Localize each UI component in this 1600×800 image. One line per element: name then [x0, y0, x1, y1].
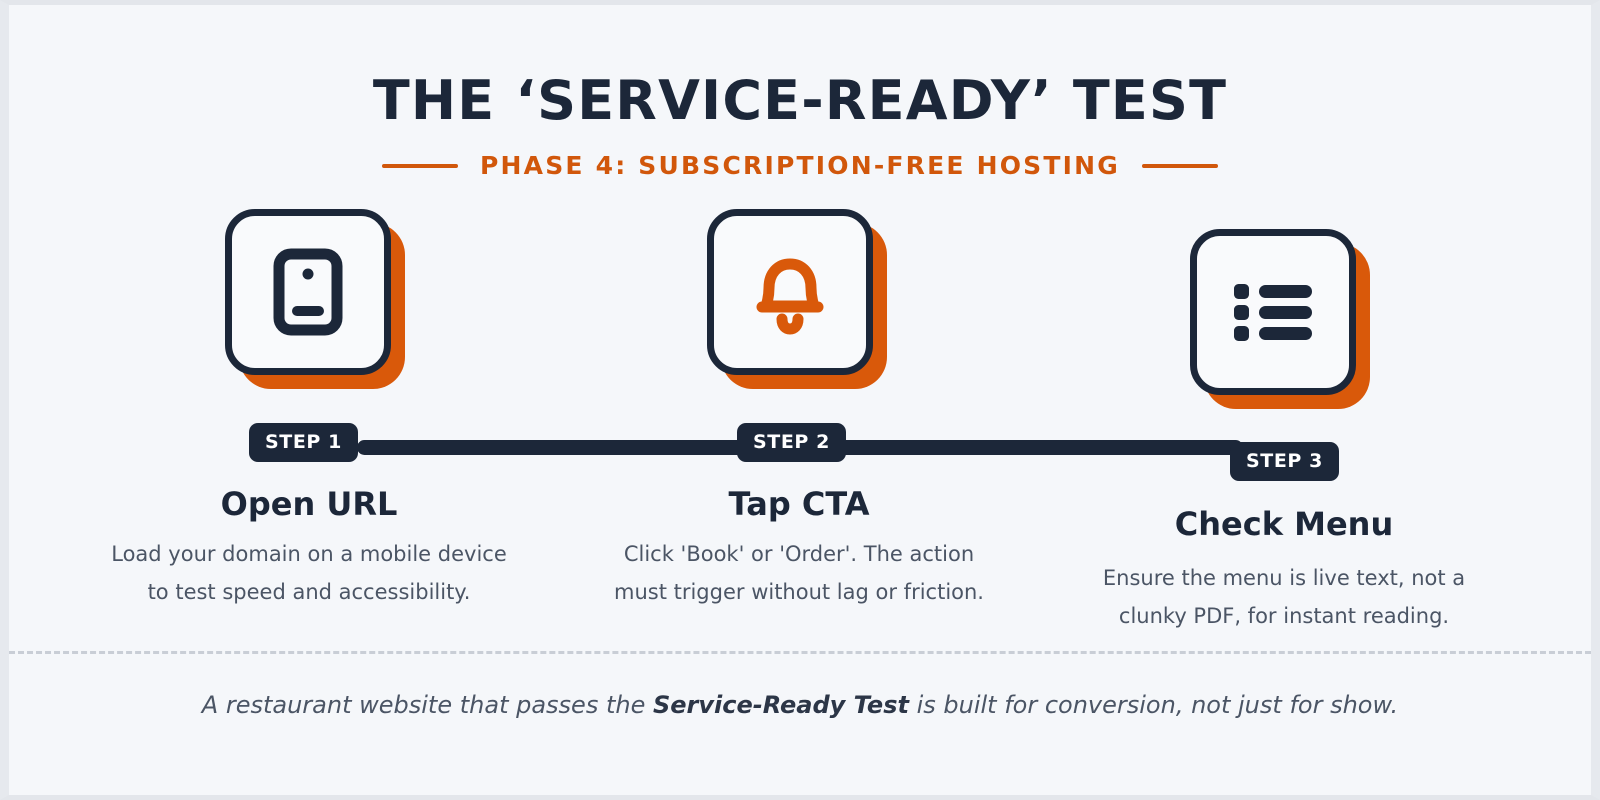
subtitle-dash-right: [1142, 164, 1218, 168]
step-1-badge: STEP 1: [249, 423, 358, 462]
infographic-canvas: THE ‘SERVICE-READY’ TEST PHASE 4: SUBSCR…: [9, 5, 1591, 795]
step-2-body: Click 'Book' or 'Order'. The action must…: [601, 535, 997, 611]
step-1-card: [225, 209, 391, 375]
footer-note: A restaurant website that passes the Ser…: [9, 691, 1591, 719]
step-3-body: Ensure the menu is live text, not a clun…: [1086, 559, 1482, 635]
bulleted-list-icon: [1230, 279, 1316, 345]
page-title: THE ‘SERVICE-READY’ TEST: [9, 69, 1591, 132]
step-3-badge: STEP 3: [1230, 442, 1339, 481]
step-column-2: Tap CTA Click 'Book' or 'Order'. The act…: [599, 201, 999, 401]
steps-section: Open URL Load your domain on a mobile de…: [9, 201, 1591, 661]
footer-tail: is built for conversion, not just for sh…: [909, 691, 1398, 719]
footer-lead: A restaurant website that passes the: [202, 691, 653, 719]
step-1-body: Load your domain on a mobile device to t…: [111, 535, 507, 611]
footer-emphasis: Service-Ready Test: [653, 691, 909, 719]
step-3-heading: Check Menu: [1084, 505, 1484, 543]
step-column-1: Open URL Load your domain on a mobile de…: [109, 201, 509, 401]
step-1-heading: Open URL: [109, 485, 509, 523]
step-3-card: [1190, 229, 1356, 395]
step-1-card-wrap: [109, 201, 509, 401]
step-2-heading: Tap CTA: [599, 485, 999, 523]
mobile-phone-icon: [272, 248, 344, 336]
step-column-3: Check Menu Ensure the menu is live text,…: [1084, 201, 1484, 401]
step-2-card: [707, 209, 873, 375]
subtitle-dash-left: [382, 164, 458, 168]
subtitle-row: PHASE 4: SUBSCRIPTION-FREE HOSTING: [9, 151, 1591, 180]
step-2-badge: STEP 2: [737, 423, 846, 462]
section-divider: [9, 651, 1591, 654]
bell-icon: [748, 248, 832, 336]
step-2-card-wrap: [599, 201, 999, 401]
step-3-card-wrap: [1084, 201, 1484, 401]
infographic-page: THE ‘SERVICE-READY’ TEST PHASE 4: SUBSCR…: [0, 0, 1600, 800]
page-subtitle: PHASE 4: SUBSCRIPTION-FREE HOSTING: [480, 151, 1120, 180]
